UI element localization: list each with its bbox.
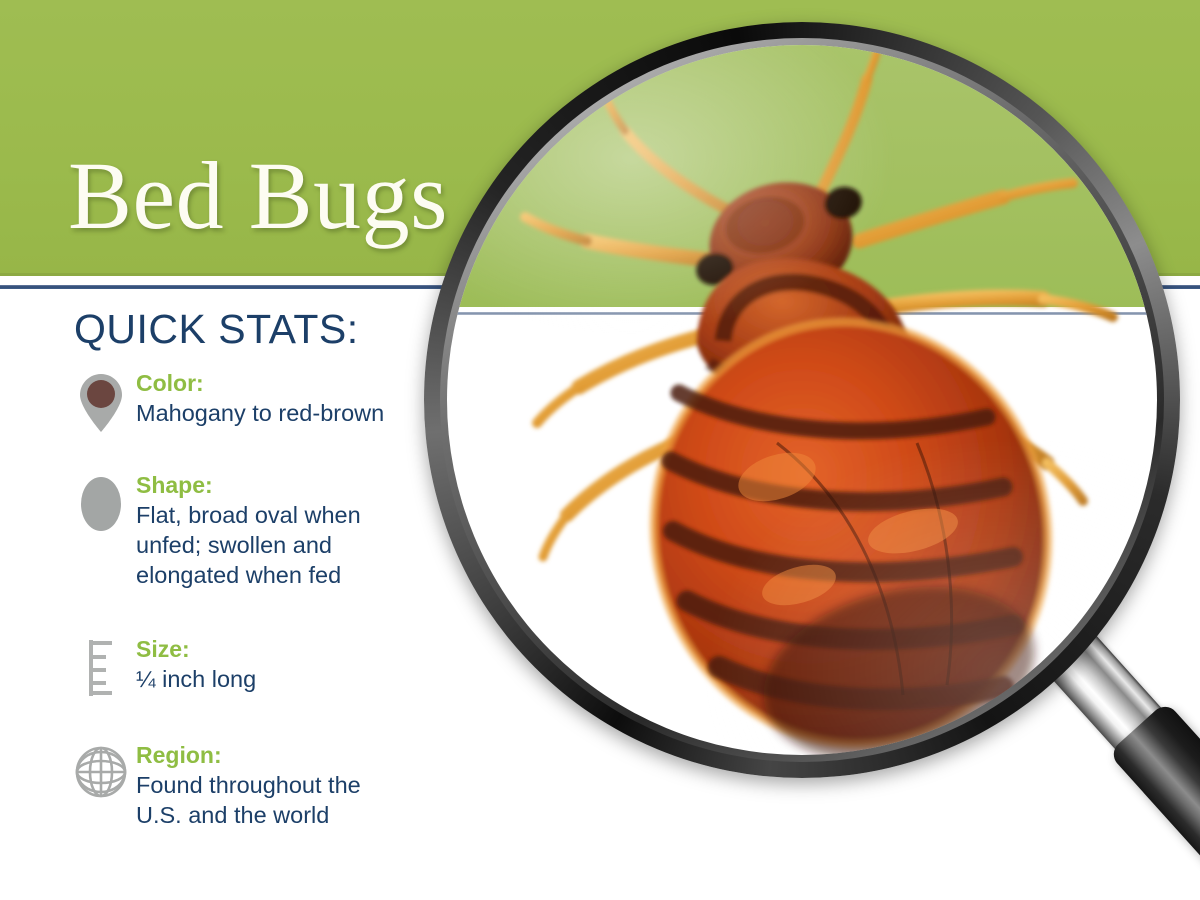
magnifier-handle xyxy=(1038,624,1200,899)
stat-value-size: ¼ inch long xyxy=(136,664,490,694)
magnified-divider-rule xyxy=(447,312,1157,315)
stat-text-region: Region: Found throughout the U.S. and th… xyxy=(132,742,490,830)
stat-label-shape: Shape: xyxy=(136,472,490,499)
stat-text-color: Color: Mahogany to red-brown xyxy=(132,370,490,428)
quick-stats-heading: QUICK STATS: xyxy=(74,306,359,353)
ruler-icon xyxy=(70,636,132,696)
stat-value-region: Found throughout the U.S. and the world xyxy=(136,770,490,830)
page-title: Bed Bugs xyxy=(68,148,448,244)
stat-row-region: Region: Found throughout the U.S. and th… xyxy=(70,742,490,830)
stat-text-shape: Shape: Flat, broad oval when unfed; swol… xyxy=(132,472,490,590)
magnifier-handle-grip xyxy=(1108,701,1200,899)
stat-label-size: Size: xyxy=(136,636,490,663)
globe-icon xyxy=(70,742,132,798)
stat-label-color: Color: xyxy=(136,370,490,397)
oval-shape-icon xyxy=(70,472,132,532)
stat-text-size: Size: ¼ inch long xyxy=(132,636,490,694)
stat-row-shape: Shape: Flat, broad oval when unfed; swol… xyxy=(70,472,490,590)
stat-label-region: Region: xyxy=(136,742,490,769)
stat-value-color: Mahogany to red-brown xyxy=(136,398,490,428)
infographic-poster: Bed Bugs xyxy=(0,0,1200,900)
magnifier-handle-neck xyxy=(1044,629,1169,758)
stat-value-shape: Flat, broad oval when unfed; swollen and… xyxy=(136,500,490,590)
header-divider-rule xyxy=(0,285,1200,289)
stat-row-size: Size: ¼ inch long xyxy=(70,636,490,696)
stat-row-color: Color: Mahogany to red-brown xyxy=(70,370,490,432)
map-pin-icon xyxy=(70,370,132,432)
quick-stats-panel: QUICK STATS: Color: Mahogany to red-brow… xyxy=(0,300,500,900)
